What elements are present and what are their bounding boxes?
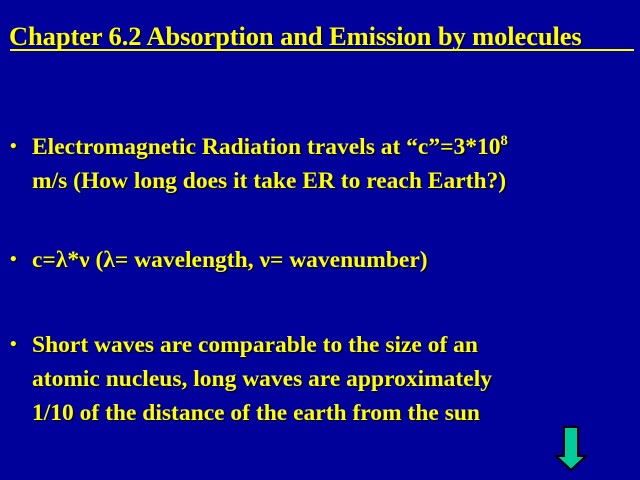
bullet-marker: • [10, 328, 32, 362]
bullet-marker: • [10, 243, 32, 277]
bullet-item-1: • Electromagnetic Radiation travels at “… [10, 130, 636, 198]
arrow-down-icon [554, 426, 588, 472]
title-underline [10, 49, 634, 51]
bullet-marker: • [10, 130, 32, 164]
bullet-text-3: Short waves are comparable to the size o… [32, 328, 636, 430]
exponent-superscript: 8 [501, 133, 508, 149]
bullet-line-text: Electromagnetic Radiation travels at “c”… [32, 134, 501, 160]
slide-title: Chapter 6.2 Absorption and Emission by m… [9, 21, 635, 51]
bullet-line: 1/10 of the distance of the earth from t… [32, 396, 636, 430]
bullet-item-3: • Short waves are comparable to the size… [10, 328, 636, 430]
bullet-line: m/s (How long does it take ER to reach E… [32, 164, 636, 198]
bullet-item-2: • c=λ*ν (λ= wavelength, ν= wavenumber) [10, 243, 636, 277]
bullet-text-2: c=λ*ν (λ= wavelength, ν= wavenumber) [32, 243, 636, 277]
presentation-slide: Chapter 6.2 Absorption and Emission by m… [0, 0, 640, 480]
bullet-line: Electromagnetic Radiation travels at “c”… [32, 130, 636, 164]
bullet-line: atomic nucleus, long waves are approxima… [32, 362, 636, 396]
bullet-line: Short waves are comparable to the size o… [32, 328, 636, 362]
bullet-text-1: Electromagnetic Radiation travels at “c”… [32, 130, 636, 198]
bullet-line: c=λ*ν (λ= wavelength, ν= wavenumber) [32, 243, 636, 277]
arrow-down-shape [556, 427, 586, 470]
